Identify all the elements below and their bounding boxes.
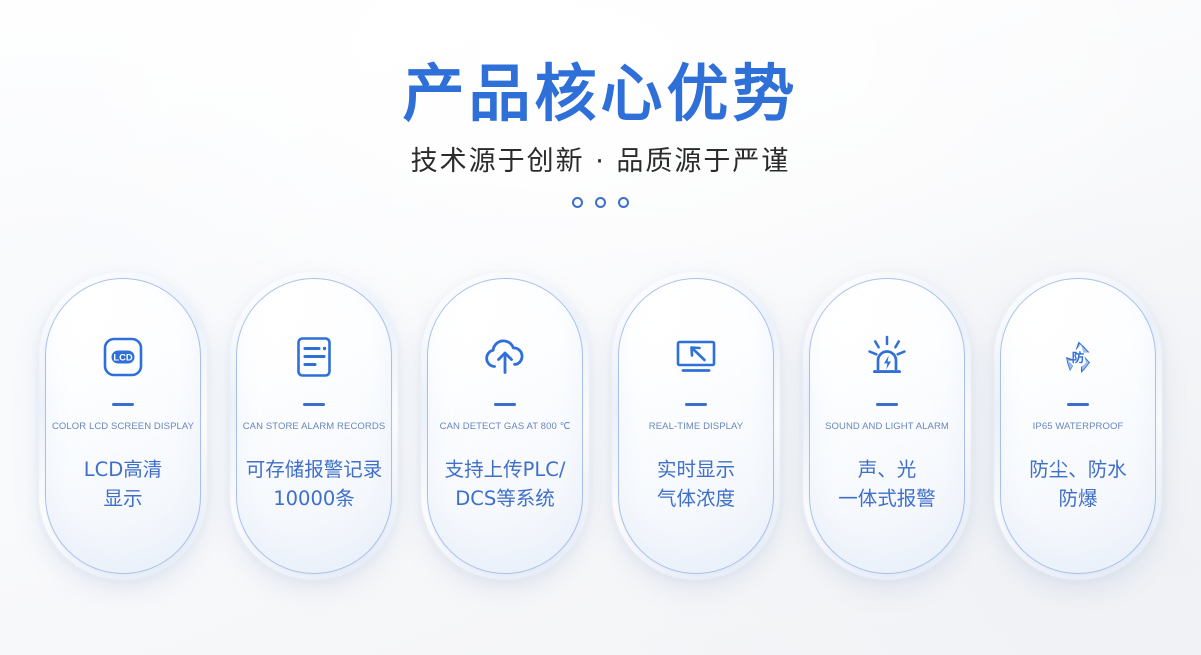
page-title: 产品核心优势 bbox=[0, 56, 1201, 132]
cloud-upload-icon bbox=[477, 329, 533, 385]
feature-card-realtime-display[interactable]: REAL-TIME DISPLAY 实时显示 气体浓度 bbox=[618, 278, 774, 574]
feature-card-list: LCD COLOR LCD SCREEN DISPLAY LCD高清 显示 bbox=[45, 278, 1156, 574]
dot-indicator-1 bbox=[572, 197, 583, 208]
card-chinese-title: 声、光 一体式报警 bbox=[832, 455, 942, 513]
decorative-dots bbox=[0, 197, 1201, 208]
recycle-protection-icon: 防 bbox=[1050, 329, 1106, 385]
lcd-screen-icon: LCD bbox=[95, 329, 151, 385]
card-divider bbox=[685, 403, 707, 406]
card-divider bbox=[303, 403, 325, 406]
card-divider bbox=[876, 403, 898, 406]
page-header: 产品核心优势 技术源于创新 · 品质源于严谨 bbox=[0, 56, 1201, 208]
page-subtitle: 技术源于创新 · 品质源于严谨 bbox=[0, 144, 1201, 180]
card-chinese-title: LCD高清 显示 bbox=[78, 455, 169, 513]
card-english-caption: SOUND AND LIGHT ALARM bbox=[825, 420, 949, 433]
card-english-caption: CAN STORE ALARM RECORDS bbox=[243, 420, 386, 433]
card-divider bbox=[1067, 403, 1089, 406]
feature-card-sound-light-alarm[interactable]: SOUND AND LIGHT ALARM 声、光 一体式报警 bbox=[809, 278, 965, 574]
card-chinese-title: 防尘、防水 防爆 bbox=[1023, 455, 1133, 513]
alarm-records-document-icon bbox=[286, 329, 342, 385]
svg-text:LCD: LCD bbox=[113, 352, 132, 363]
card-chinese-title: 可存储报警记录 10000条 bbox=[240, 455, 389, 513]
feature-card-cloud-upload[interactable]: CAN DETECT GAS AT 800 ℃ 支持上传PLC/ DCS等系统 bbox=[427, 278, 583, 574]
dot-indicator-3 bbox=[618, 197, 629, 208]
card-english-caption: COLOR LCD SCREEN DISPLAY bbox=[52, 420, 194, 433]
card-chinese-title: 支持上传PLC/ DCS等系统 bbox=[439, 455, 572, 513]
svg-text:防: 防 bbox=[1072, 350, 1085, 365]
card-english-caption: IP65 WATERPROOF bbox=[1033, 420, 1124, 433]
card-chinese-title: 实时显示 气体浓度 bbox=[651, 455, 741, 513]
card-divider bbox=[112, 403, 134, 406]
card-english-caption: REAL-TIME DISPLAY bbox=[649, 420, 743, 433]
product-advantages-page: 产品核心优势 技术源于创新 · 品质源于严谨 LCD COLOR LCD SCR… bbox=[0, 0, 1201, 655]
dot-indicator-2 bbox=[595, 197, 606, 208]
card-english-caption: CAN DETECT GAS AT 800 ℃ bbox=[440, 420, 571, 433]
feature-card-ip65-waterproof[interactable]: 防 IP65 WATERPROOF 防尘、防水 防爆 bbox=[1000, 278, 1156, 574]
feature-card-lcd-display[interactable]: LCD COLOR LCD SCREEN DISPLAY LCD高清 显示 bbox=[45, 278, 201, 574]
card-divider bbox=[494, 403, 516, 406]
feature-card-alarm-records[interactable]: CAN STORE ALARM RECORDS 可存储报警记录 10000条 bbox=[236, 278, 392, 574]
alarm-beacon-icon bbox=[859, 329, 915, 385]
monitor-arrow-icon bbox=[668, 329, 724, 385]
